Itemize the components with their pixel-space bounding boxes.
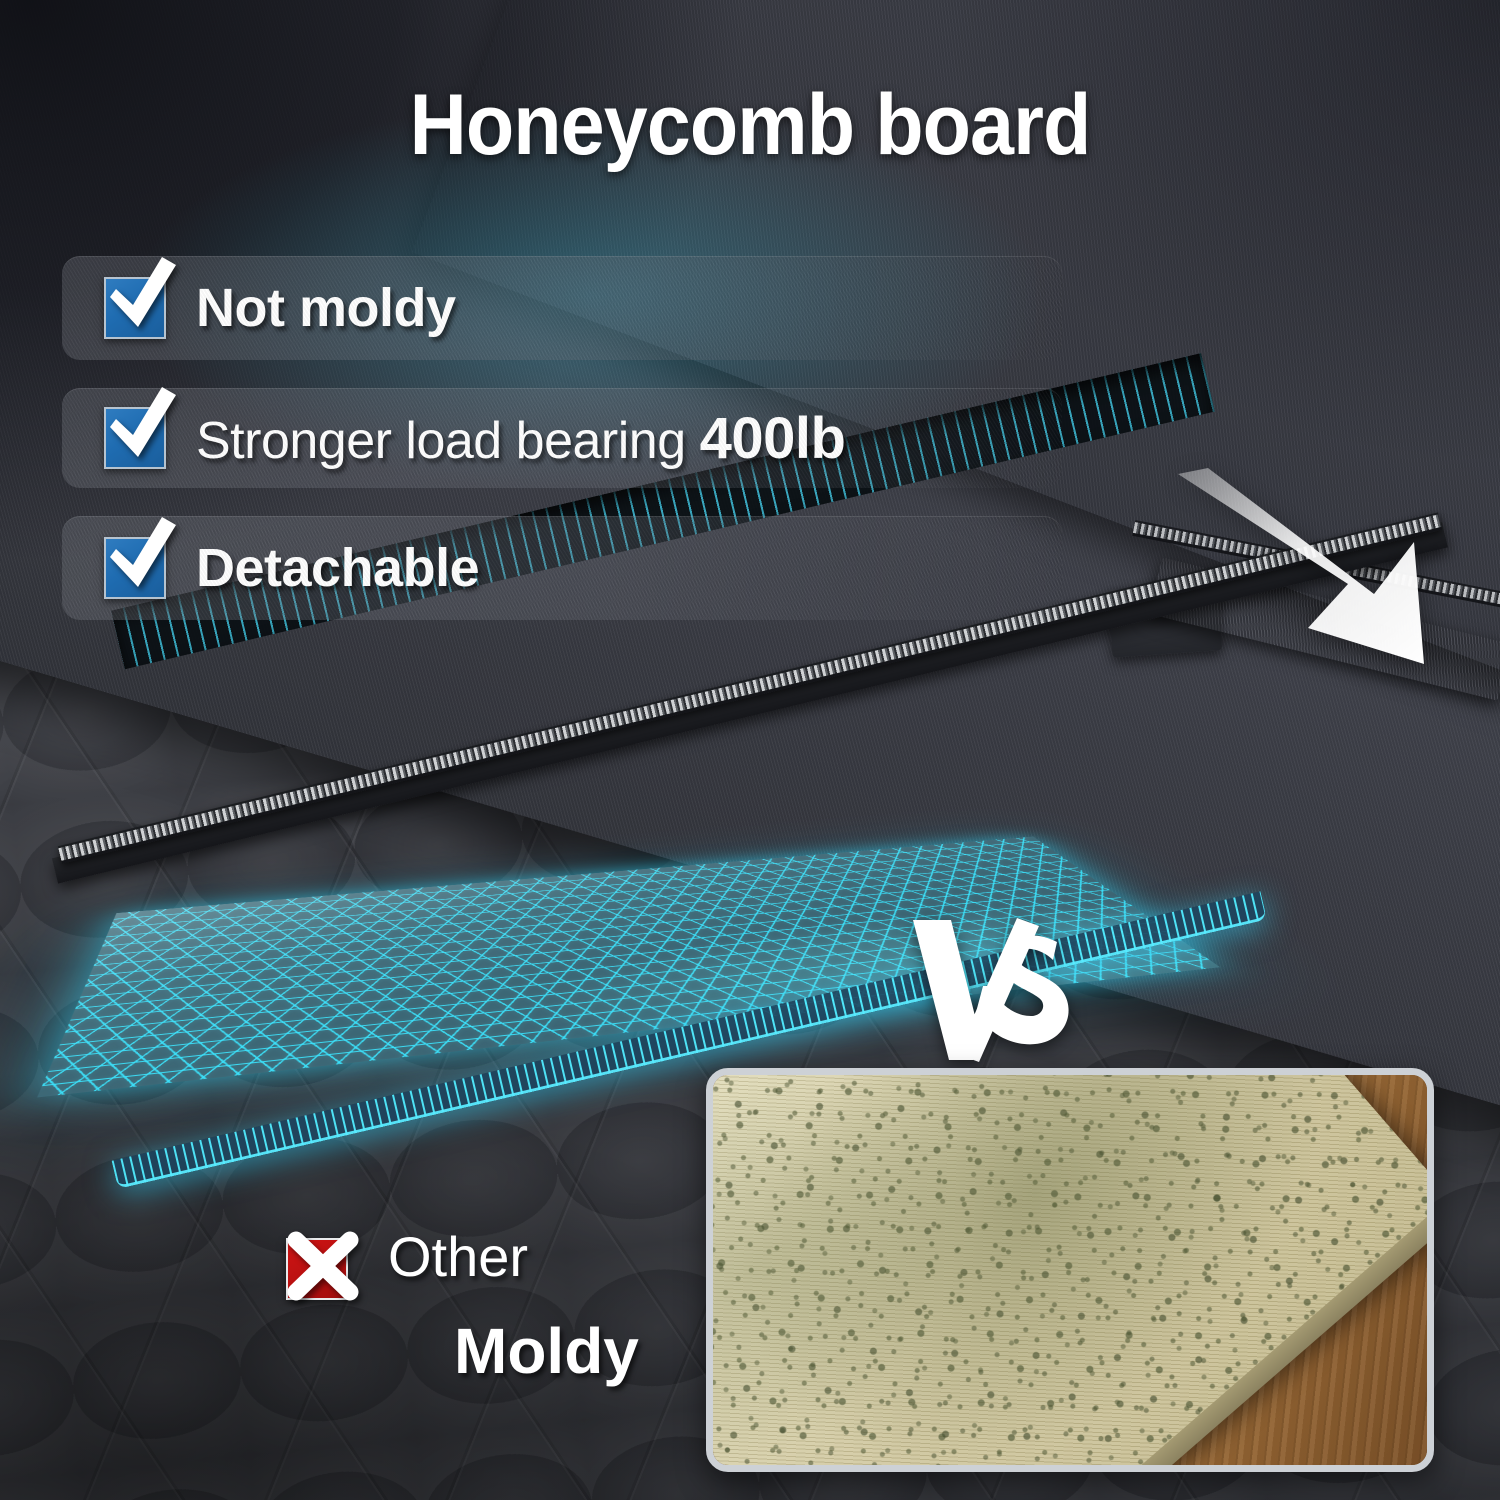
feature-label-load-bearing-text: Stronger load bearing [196,412,700,470]
feature-item-load-bearing: Stronger load bearing 400lb [62,388,1062,488]
other-label: Other [388,1228,528,1286]
blue-check-icon [104,407,166,469]
checkmark-glyph [100,383,184,467]
moldy-label: Moldy [454,1314,706,1388]
x-glyph [270,1214,374,1318]
feature-list: Not moldy Stronger load bearing 400lb De… [62,256,1062,648]
product-feature-graphic: Honeycomb board Not moldy Stronger load … [0,0,1500,1500]
negative-comparison-label: Other Moldy [286,1228,706,1388]
feature-label-detachable: Detachable [196,537,479,599]
red-x-icon [286,1238,352,1304]
checkmark-glyph [100,513,184,597]
feature-item-detachable: Detachable [62,516,1062,620]
versus-icon [905,912,1085,1062]
blue-check-icon [104,277,166,339]
honeycomb-board [96,596,1276,1116]
feature-label-not-moldy: Not moldy [196,277,456,339]
feature-item-not-moldy: Not moldy [62,256,1062,360]
detach-arrow-icon [1178,468,1478,708]
moldy-rug-pad-photo [706,1068,1434,1472]
checkmark-glyph [100,253,184,337]
page-title: Honeycomb board [60,76,1440,175]
feature-label-load-bearing-value: 400lb [700,406,846,471]
feature-label-load-bearing: Stronger load bearing 400lb [196,405,845,472]
blue-check-icon [104,537,166,599]
